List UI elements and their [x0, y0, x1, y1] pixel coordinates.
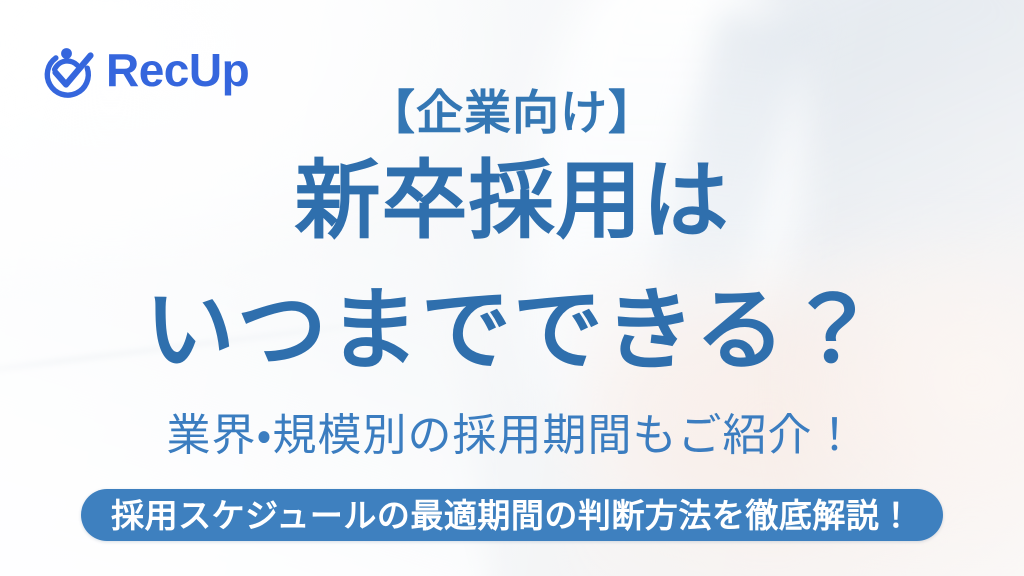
sub-headline: 業界・規模別の採用期間もご紹介！	[0, 412, 1024, 460]
headline-tail-text: は	[643, 158, 730, 244]
headline-line-1: 新卒採用は	[0, 158, 1024, 244]
eyebrow-label: 【企業向け】	[0, 88, 1024, 140]
thumbnail-canvas: RecUp 【企業向け】 新卒採用は いつまでできる？ 業界・規模別の採用期間も…	[0, 0, 1024, 576]
headline-highlighted-text: 新卒採用	[295, 158, 643, 244]
bottom-banner-pill: 採用スケジュールの最適期間の判断方法を徹底解説！	[81, 489, 943, 541]
headline-line-2: いつまでできる？	[0, 286, 1024, 376]
brand-wordmark: RecUp	[106, 47, 249, 93]
banner-row: 採用スケジュールの最適期間の判断方法を徹底解説！	[0, 489, 1024, 541]
